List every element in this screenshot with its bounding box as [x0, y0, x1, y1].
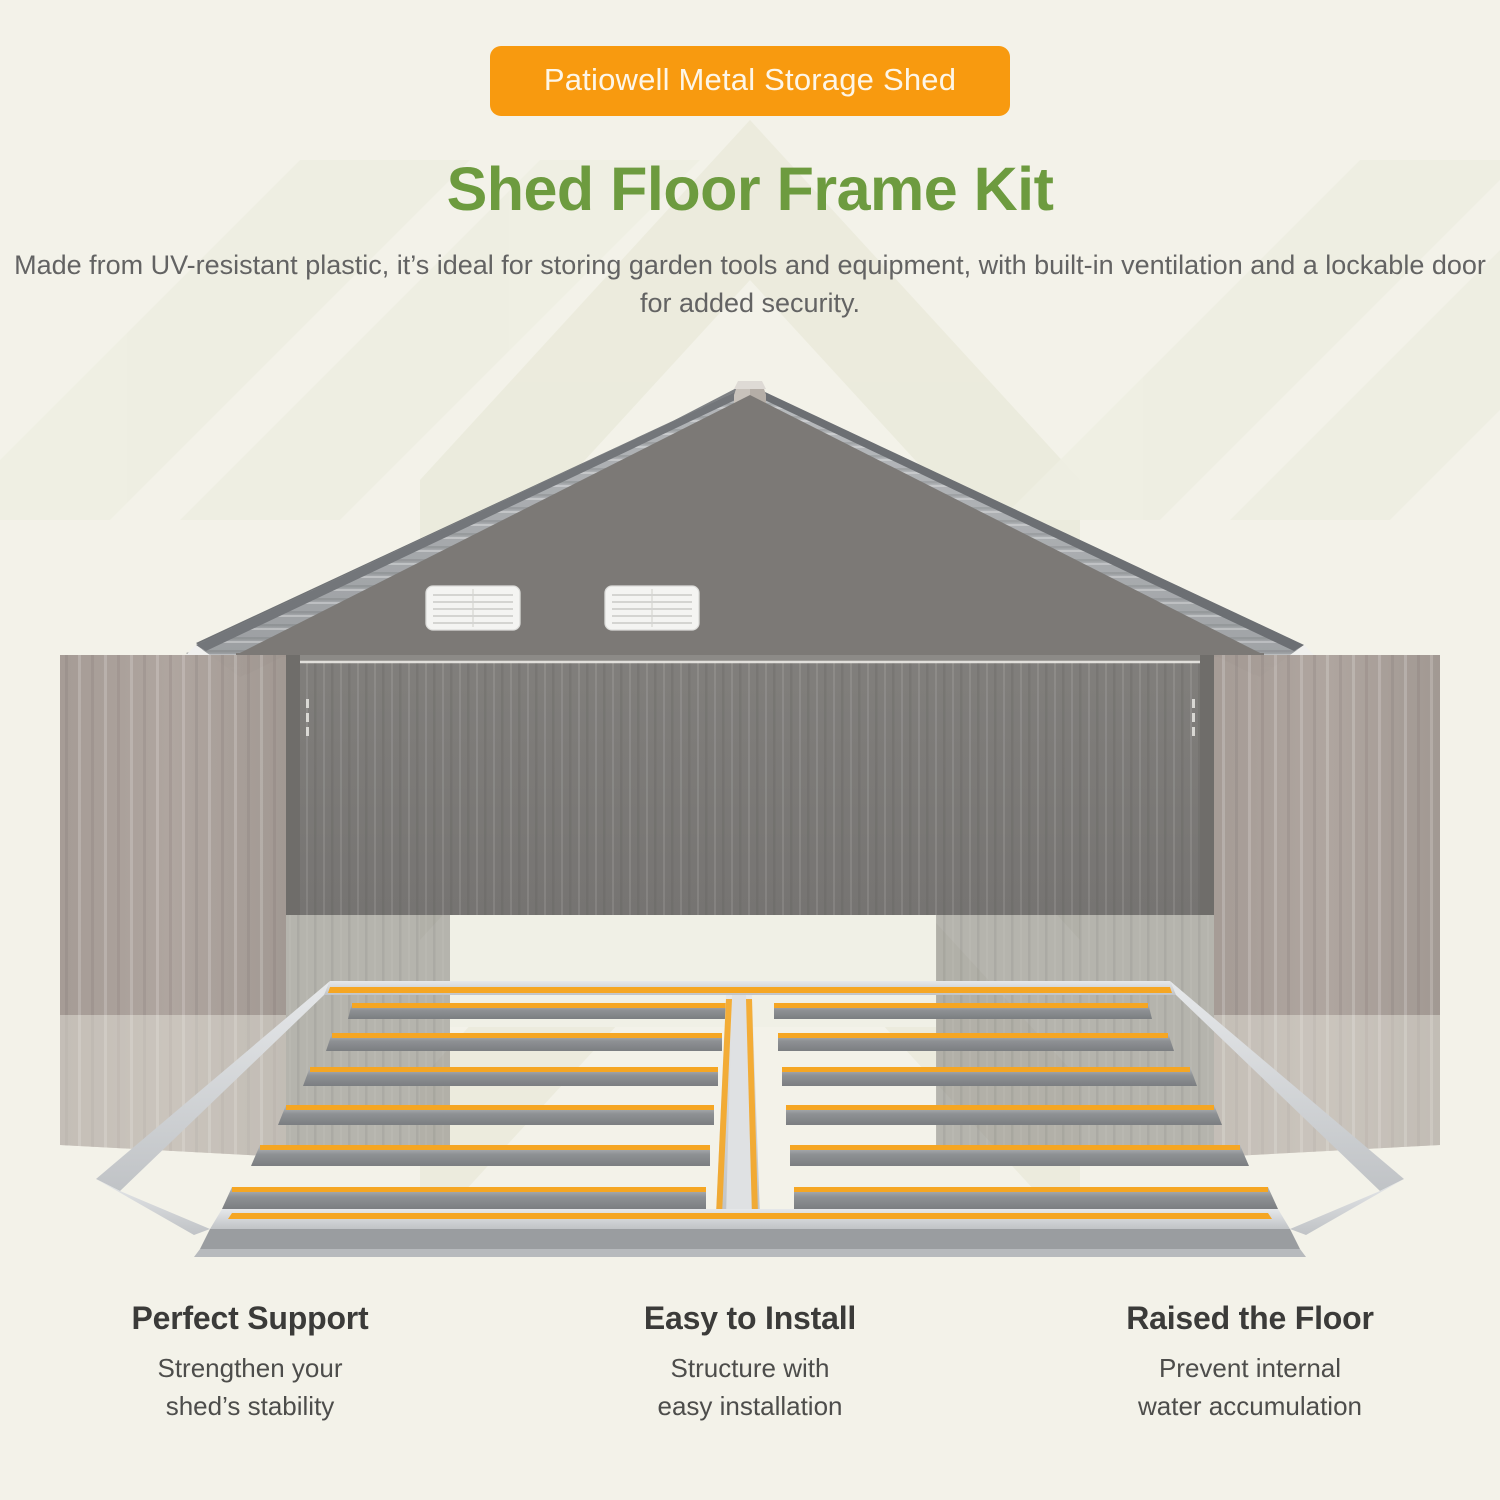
feature-description: Structure with easy installation	[500, 1350, 1000, 1425]
page-title: Shed Floor Frame Kit	[0, 154, 1500, 224]
shed-illustration-svg	[0, 355, 1500, 1285]
frame-front-rail	[194, 1209, 1306, 1257]
gable-panel	[236, 395, 1264, 657]
frame-centre-beam	[716, 995, 760, 1217]
feature-raised-the-floor: Raised the Floor Prevent internal water …	[1000, 1300, 1500, 1425]
shed-illustration	[0, 355, 1500, 1285]
header: Patiowell Metal Storage Shed Shed Floor …	[0, 0, 1500, 323]
feature-title: Perfect Support	[0, 1300, 500, 1337]
side-wall-left	[60, 655, 286, 1157]
vent-right	[605, 586, 699, 630]
feature-easy-to-install: Easy to Install Structure with easy inst…	[500, 1300, 1000, 1425]
front-wall-panel	[286, 655, 1214, 915]
side-wall-right	[1214, 655, 1440, 1157]
feature-description: Prevent internal water accumulation	[1000, 1350, 1500, 1425]
feature-title: Raised the Floor	[1000, 1300, 1500, 1337]
page-subtitle: Made from UV-resistant plastic, it’s ide…	[0, 246, 1500, 323]
feature-perfect-support: Perfect Support Strengthen your shed’s s…	[0, 1300, 500, 1425]
brand-badge: Patiowell Metal Storage Shed	[490, 46, 1010, 116]
feature-list: Perfect Support Strengthen your shed’s s…	[0, 1300, 1500, 1425]
floor-frame-kit	[96, 981, 1404, 1257]
feature-title: Easy to Install	[500, 1300, 1000, 1337]
vent-left	[426, 586, 520, 630]
feature-description: Strengthen your shed’s stability	[0, 1350, 500, 1425]
frame-back-rail	[324, 981, 1176, 995]
